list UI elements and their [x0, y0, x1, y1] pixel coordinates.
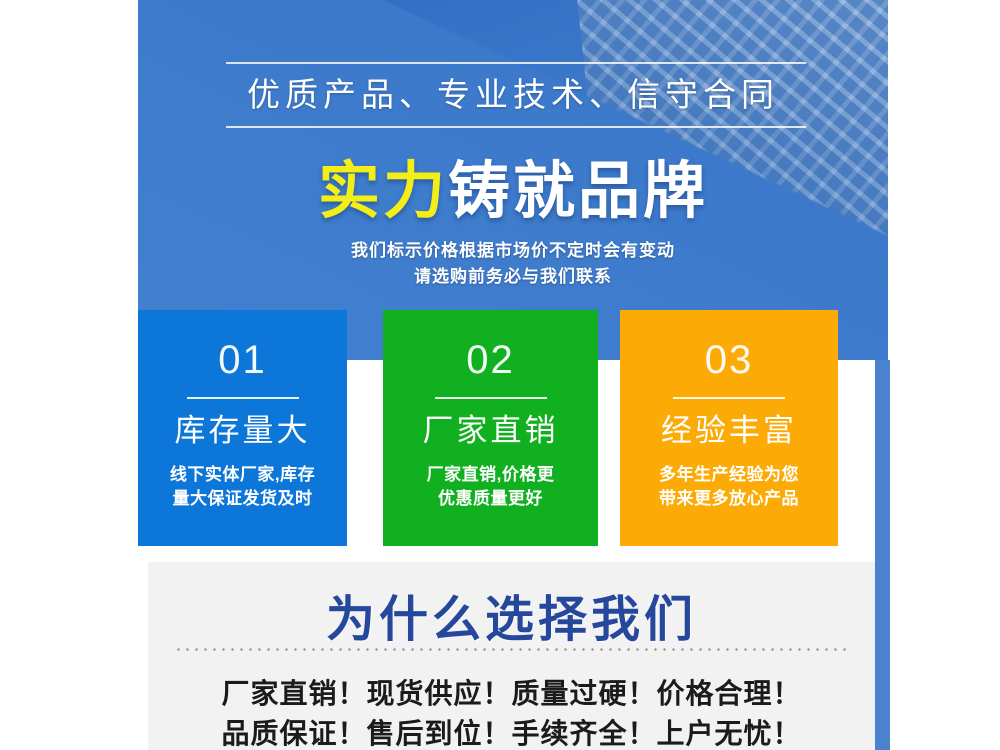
right-accent-stripe [875, 360, 890, 750]
hero-banner: 优质产品、专业技术、信守合同 实力铸就品牌 我们标示价格根据市场价不定时会有变动… [138, 0, 888, 360]
card-title: 库存量大 [138, 413, 347, 449]
slogan-line-2: 品质保证！售后到位！手续齐全！上户无忧！ [148, 712, 875, 750]
card-number: 01 [138, 340, 347, 380]
card-description-line-2: 带来更多放心产品 [632, 487, 826, 511]
feature-card-list: 01 库存量大 线下实体厂家,库存 量大保证发货及时 02 厂家直销 厂家直销,… [0, 310, 1000, 546]
promo-banner: 优质产品、专业技术、信守合同 实力铸就品牌 我们标示价格根据市场价不定时会有变动… [0, 0, 1000, 750]
feature-card-02[interactable]: 02 厂家直销 厂家直销,价格更 优惠质量更好 [383, 310, 598, 546]
card-divider [435, 397, 547, 399]
card-description: 多年生产经验为您 带来更多放心产品 [620, 463, 838, 511]
card-number: 03 [620, 340, 838, 380]
headline-rest-text: 铸就品牌 [448, 157, 708, 226]
card-title: 经验丰富 [620, 413, 838, 449]
card-title: 厂家直销 [383, 413, 598, 449]
card-description-line-1: 厂家直销,价格更 [395, 463, 586, 487]
hero-subtitle-line-1: 我们标示价格根据市场价不定时会有变动 [138, 236, 888, 261]
card-description-line-2: 优惠质量更好 [395, 487, 586, 511]
card-divider [673, 397, 785, 399]
hero-headline: 实力铸就品牌 [138, 140, 888, 230]
card-description-line-2: 量大保证发货及时 [150, 487, 335, 511]
feature-card-01[interactable]: 01 库存量大 线下实体厂家,库存 量大保证发货及时 [138, 310, 347, 546]
card-divider [187, 397, 299, 399]
card-description: 线下实体厂家,库存 量大保证发货及时 [138, 463, 347, 511]
dotted-divider [174, 648, 849, 651]
card-description: 厂家直销,价格更 优惠质量更好 [383, 463, 598, 511]
tagline-rule-top [226, 62, 806, 64]
headline-accent-text: 实力 [318, 157, 448, 226]
why-choose-us-title: 为什么选择我们 [148, 580, 875, 651]
feature-card-03[interactable]: 03 经验丰富 多年生产经验为您 带来更多放心产品 [620, 310, 838, 546]
why-choose-us-section: 为什么选择我们 厂家直销！现货供应！质量过硬！价格合理！ 品质保证！售后到位！手… [148, 562, 875, 750]
card-description-line-1: 线下实体厂家,库存 [150, 463, 335, 487]
slogan-line-1: 厂家直销！现货供应！质量过硬！价格合理！ [148, 672, 875, 712]
card-description-line-1: 多年生产经验为您 [632, 463, 826, 487]
tagline-rule-bottom [226, 126, 806, 128]
hero-subtitle-line-2: 请选购前务必与我们联系 [138, 262, 888, 287]
hero-tagline: 优质产品、专业技术、信守合同 [138, 68, 888, 116]
card-number: 02 [383, 340, 598, 380]
